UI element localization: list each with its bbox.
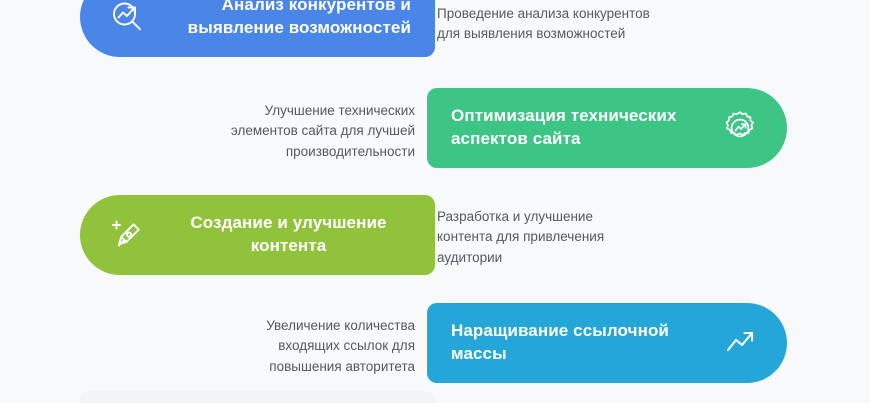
- magnifier-trend-icon: [106, 0, 148, 38]
- pen-plus-icon: [106, 214, 148, 256]
- step-description-4: Увеличение количества входящих ссылок дл…: [205, 316, 415, 377]
- step-row-1: Анализ конкурентов и выявление возможнос…: [0, 0, 870, 57]
- step-card-next-partial[interactable]: [80, 391, 435, 403]
- step-row-2: Улучшение технических элементов сайта дл…: [0, 88, 870, 168]
- step-card-technical-optimization[interactable]: Оптимизация технических аспектов сайта: [427, 88, 787, 168]
- step-row-4: Увеличение количества входящих ссылок дл…: [0, 303, 870, 383]
- roadmap-diagram: Анализ конкурентов и выявление возможнос…: [0, 0, 870, 400]
- step-title-1: Анализ конкурентов и выявление возможнос…: [166, 0, 411, 40]
- step-description-2: Улучшение технических элементов сайта дл…: [205, 101, 415, 162]
- gear-chart-icon: [719, 107, 761, 149]
- step-title-4: Наращивание ссылочной массы: [451, 320, 701, 366]
- step-card-content-creation[interactable]: Создание и улучшение контента: [80, 195, 435, 275]
- step-title-3: Создание и улучшение контента: [166, 212, 411, 258]
- step-card-link-building[interactable]: Наращивание ссылочной массы: [427, 303, 787, 383]
- step-description-3: Разработка и улучшение контента для прив…: [437, 207, 632, 268]
- step-description-1: Проведение анализа конкурентов для выявл…: [437, 4, 652, 45]
- step-title-2: Оптимизация технических аспектов сайта: [451, 105, 701, 151]
- step-card-competitor-analysis[interactable]: Анализ конкурентов и выявление возможнос…: [80, 0, 435, 57]
- step-row-3: Создание и улучшение контента Разработка…: [0, 195, 870, 275]
- trending-up-icon: [719, 322, 761, 364]
